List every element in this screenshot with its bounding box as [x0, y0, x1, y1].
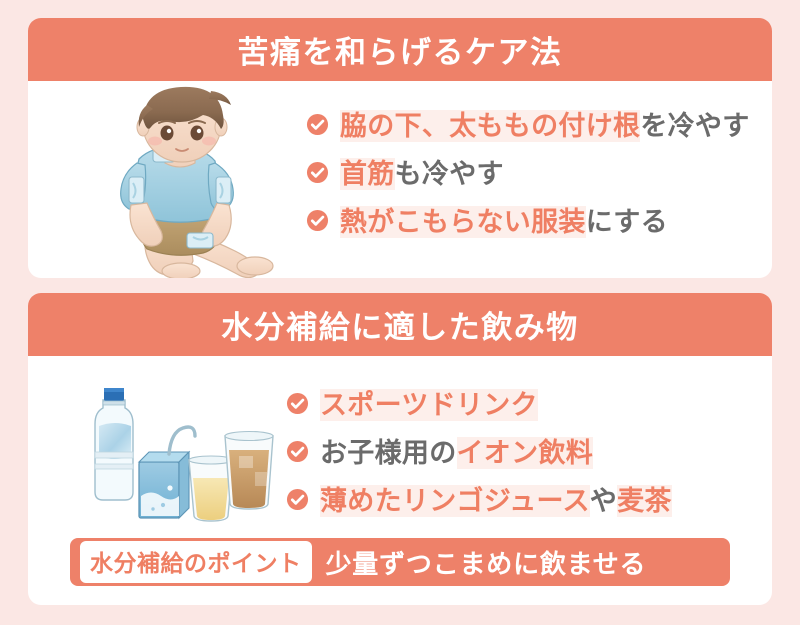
care-bullet-list: 脇の下、太ももの付け根を冷やす 首筋も冷やす — [298, 81, 772, 243]
care-card: 苦痛を和らげるケア法 — [28, 18, 772, 278]
check-circle-icon — [306, 113, 329, 136]
check-circle-icon — [286, 488, 309, 511]
infographic-page: 苦痛を和らげるケア法 — [0, 0, 800, 625]
hydration-point-bar: 水分補給のポイント 少量ずつこまめに飲ませる — [70, 538, 730, 586]
drinks-card-title: 水分補給に適した飲み物 — [221, 302, 579, 347]
drinks-bullet-1-text: スポーツドリンク — [320, 383, 538, 422]
drinks-bullet-3-seg-3: 麦茶 — [617, 485, 672, 517]
care-card-header: 苦痛を和らげるケア法 — [28, 18, 772, 81]
drinks-bullet-3-seg-2: や — [590, 486, 617, 516]
care-bullet-2-seg-1: 首筋 — [340, 158, 395, 190]
drinks-bullet-3-seg-1: 薄めたリンゴジュース — [320, 485, 590, 517]
check-circle-icon — [306, 209, 329, 232]
care-bullet-3-text: 熱がこもらない服装にする — [340, 200, 668, 239]
drinks-bullet-3-text: 薄めたリンゴジュースや麦茶 — [320, 479, 672, 518]
care-bullet-3-seg-2: にする — [586, 207, 668, 237]
drinks-bullet-1-seg-1: スポーツドリンク — [320, 389, 538, 421]
care-card-title: 苦痛を和らげるケア法 — [238, 27, 563, 72]
drinks-card-header: 水分補給に適した飲み物 — [28, 293, 772, 356]
check-circle-icon — [306, 161, 329, 184]
care-bullet-1: 脇の下、太ももの付け根を冷やす — [306, 99, 772, 147]
water-bottle-juice-box-and-glasses-illustration — [73, 374, 278, 524]
care-bullet-2-text: 首筋も冷やす — [340, 152, 504, 191]
drinks-bullet-list: スポーツドリンク お子様用のイオン飲料 — [278, 356, 772, 522]
drinks-bullet-2-text: お子様用のイオン飲料 — [320, 431, 593, 470]
hydration-point-text: 少量ずつこまめに飲ませる — [326, 544, 647, 581]
care-bullet-3-seg-1: 熱がこもらない服装 — [340, 206, 586, 238]
care-bullet-1-seg-1: 脇の下、太ももの付け根 — [340, 110, 640, 142]
drinks-bullet-2: お子様用のイオン飲料 — [286, 426, 772, 474]
check-circle-icon — [286, 392, 309, 415]
check-circle-icon — [286, 440, 309, 463]
care-card-body: 脇の下、太ももの付け根を冷やす 首筋も冷やす — [28, 81, 772, 278]
hydration-point-chip-label: 水分補給のポイント — [80, 541, 312, 583]
drinks-bullet-1: スポーツドリンク — [286, 378, 772, 426]
care-bullet-2-seg-2: も冷やす — [395, 159, 504, 189]
drinks-bullet-2-seg-1: お子様用の — [320, 438, 457, 468]
care-bullet-1-text: 脇の下、太ももの付け根を冷やす — [340, 104, 750, 143]
drinks-bullet-3: 薄めたリンゴジュースや麦茶 — [286, 474, 772, 522]
drinks-bullet-2-seg-2: イオン飲料 — [457, 437, 594, 469]
care-bullet-1-seg-2: を冷やす — [640, 111, 749, 141]
sick-boy-with-cooling-packs-illustration — [83, 83, 298, 278]
care-bullet-2: 首筋も冷やす — [306, 147, 772, 195]
care-bullet-3: 熱がこもらない服装にする — [306, 195, 772, 243]
